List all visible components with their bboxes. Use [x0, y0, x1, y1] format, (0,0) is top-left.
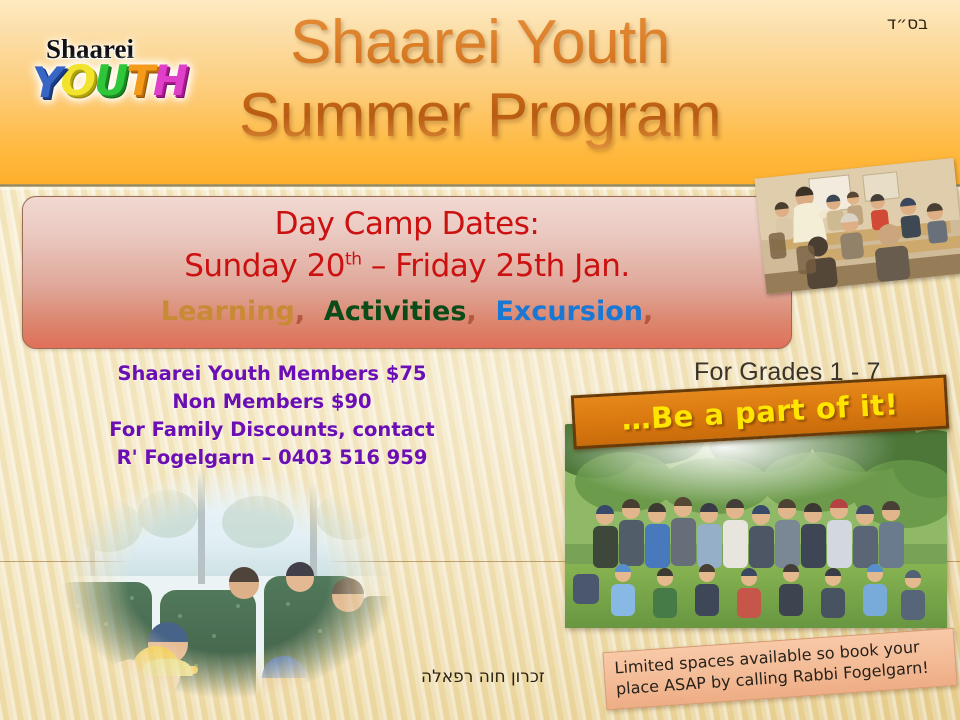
- flyer-canvas: בס״ד Shaarei Youth Summer Program Shaare…: [0, 0, 960, 720]
- component-separator-3: ,: [643, 296, 653, 327]
- be-a-part-text: …Be a part of it!: [621, 387, 900, 436]
- dates-range-post: – Friday 25th Jan.: [361, 248, 629, 284]
- component-learning: Learning: [161, 296, 295, 327]
- logo-letter-o: O: [60, 60, 94, 102]
- price-line-members: Shaarei Youth Members $75: [62, 360, 482, 388]
- classroom-photo-art: [754, 158, 960, 294]
- logo-letter-t: T: [126, 60, 153, 102]
- shaarei-youth-logo: Shaarei YOUTH: [32, 34, 200, 120]
- price-line-non-members: Non Members $90: [62, 388, 482, 416]
- bus-trip-photo: [48, 456, 408, 708]
- logo-word-youth: YOUTH: [32, 60, 186, 102]
- program-components: Learning, Activities, Excursion,: [23, 296, 791, 327]
- dates-range-pre: Sunday 20: [184, 248, 345, 284]
- bus-photo-art: [48, 456, 408, 708]
- component-activities: Activities: [324, 296, 466, 327]
- component-separator-1: ,: [295, 296, 305, 327]
- classroom-learning-photo: [754, 158, 960, 294]
- dates-banner-content: Day Camp Dates: Sunday 20th – Friday 25t…: [23, 197, 791, 348]
- dates-ordinal-suffix: th: [345, 250, 361, 270]
- logo-letter-y: Y: [32, 62, 60, 104]
- logo-letter-u: U: [94, 60, 126, 102]
- group-outdoor-photo: [565, 424, 947, 628]
- dates-heading: Day Camp Dates:: [23, 206, 791, 242]
- component-excursion: Excursion: [495, 296, 643, 327]
- group-photo-art: [565, 424, 947, 628]
- day-camp-dates-banner: Day Camp Dates: Sunday 20th – Friday 25t…: [22, 196, 792, 349]
- price-line-family-discounts: For Family Discounts, contact: [62, 416, 482, 444]
- dates-range: Sunday 20th – Friday 25th Jan.: [23, 248, 791, 284]
- pricing-block: Shaarei Youth Members $75 Non Members $9…: [62, 360, 482, 472]
- logo-letter-h: H: [153, 60, 186, 102]
- bsd-text: בס״ד: [887, 14, 928, 34]
- component-separator-2: ,: [466, 296, 476, 327]
- price-line-contact: R' Fogelgarn – 0403 516 959: [62, 444, 482, 472]
- memorial-dedication: זכרון חוה רפאלה: [421, 667, 545, 687]
- page-title: Shaarei Youth Summer Program: [150, 6, 810, 152]
